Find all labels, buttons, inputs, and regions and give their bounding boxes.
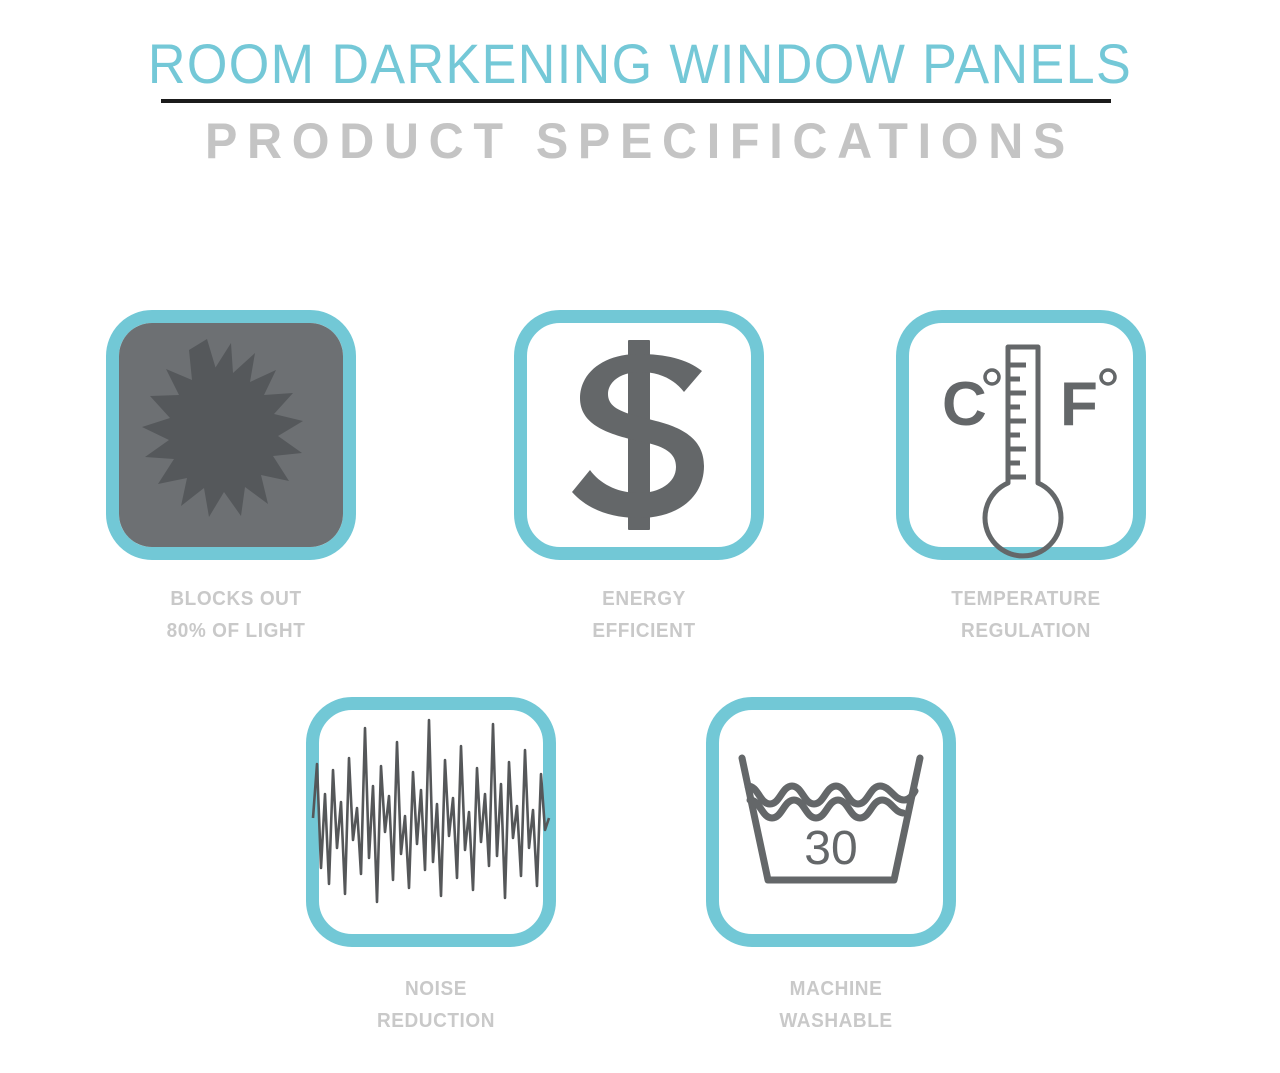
icon-frame: 30 xyxy=(706,697,956,947)
feature-caption: BLOCKS OUT 80% OF LIGHT xyxy=(113,583,360,647)
degree-symbol-fahrenheit xyxy=(1101,370,1115,384)
feature-card-blocks-light[interactable]: BLOCKS OUT 80% OF LIGHT xyxy=(106,310,366,647)
caption-line-2: EFFICIENT xyxy=(521,615,768,647)
caption-line-1: ENERGY xyxy=(521,583,768,615)
feature-card-temperature-regulation[interactable]: C F TEMPERATURE REGULATION xyxy=(896,310,1156,647)
dollar-sign-icon xyxy=(564,340,714,530)
feature-caption: TEMPERATURE REGULATION xyxy=(903,583,1150,647)
wash-tub-icon: 30 xyxy=(736,752,926,892)
feature-card-machine-washable[interactable]: 30 MACHINE WASHABLE xyxy=(706,697,966,1037)
fahrenheit-label: F xyxy=(1060,370,1098,439)
caption-line-2: REDUCTION xyxy=(313,1005,560,1037)
degree-symbol-celsius xyxy=(985,370,999,384)
caption-line-1: NOISE xyxy=(313,973,560,1005)
icon-frame xyxy=(306,697,556,947)
caption-line-1: BLOCKS OUT xyxy=(113,583,360,615)
feature-caption: MACHINE WASHABLE xyxy=(713,973,960,1037)
thermometer-icon: C F xyxy=(916,335,1126,535)
caption-line-2: REGULATION xyxy=(903,615,1150,647)
celsius-label: C xyxy=(942,370,987,439)
caption-line-2: 80% OF LIGHT xyxy=(113,615,360,647)
feature-caption: NOISE REDUCTION xyxy=(313,973,560,1037)
caption-line-1: TEMPERATURE xyxy=(903,583,1150,615)
caption-line-2: WASHABLE xyxy=(713,1005,960,1037)
wash-temperature-label: 30 xyxy=(804,822,857,875)
page-title: ROOM DARKENING WINDOW PANELS xyxy=(45,34,1235,94)
feature-caption: ENERGY EFFICIENT xyxy=(521,583,768,647)
icon-frame xyxy=(106,310,356,560)
caption-line-1: MACHINE xyxy=(713,973,960,1005)
page-subtitle: PRODUCT SPECIFICATIONS xyxy=(19,112,1261,170)
sun-blocked-icon xyxy=(119,323,343,547)
feature-card-noise-reduction[interactable]: NOISE REDUCTION xyxy=(306,697,566,1037)
page-header: ROOM DARKENING WINDOW PANELS PRODUCT SPE… xyxy=(0,0,1280,190)
noise-waveform-icon xyxy=(307,698,555,946)
title-divider xyxy=(161,99,1111,103)
icon-frame: C F xyxy=(896,310,1146,560)
icon-frame xyxy=(514,310,764,560)
feature-card-energy-efficient[interactable]: ENERGY EFFICIENT xyxy=(514,310,774,647)
